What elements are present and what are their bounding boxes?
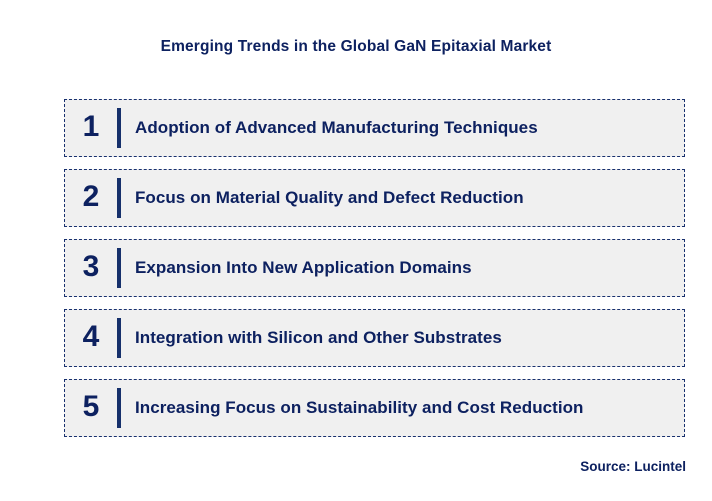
- trends-infographic: Emerging Trends in the Global GaN Epitax…: [0, 0, 712, 501]
- trend-label: Expansion Into New Application Domains: [135, 258, 684, 278]
- divider-bar: [117, 318, 121, 358]
- trend-number: 1: [65, 112, 117, 144]
- trend-label: Adoption of Advanced Manufacturing Techn…: [135, 118, 684, 138]
- trend-list: 1 Adoption of Advanced Manufacturing Tec…: [64, 99, 685, 437]
- divider-bar: [117, 388, 121, 428]
- trend-number: 2: [65, 182, 117, 214]
- trend-item-2[interactable]: 2 Focus on Material Quality and Defect R…: [64, 169, 685, 227]
- trend-item-1[interactable]: 1 Adoption of Advanced Manufacturing Tec…: [64, 99, 685, 157]
- trend-number: 5: [65, 392, 117, 424]
- divider-bar: [117, 178, 121, 218]
- trend-item-5[interactable]: 5 Increasing Focus on Sustainability and…: [64, 379, 685, 437]
- trend-item-3[interactable]: 3 Expansion Into New Application Domains: [64, 239, 685, 297]
- trend-label: Integration with Silicon and Other Subst…: [135, 328, 684, 348]
- trend-label: Focus on Material Quality and Defect Red…: [135, 188, 684, 208]
- source-attribution: Source: Lucintel: [580, 459, 686, 474]
- trend-number: 4: [65, 322, 117, 354]
- trend-item-4[interactable]: 4 Integration with Silicon and Other Sub…: [64, 309, 685, 367]
- trend-label: Increasing Focus on Sustainability and C…: [135, 398, 684, 418]
- page-title: Emerging Trends in the Global GaN Epitax…: [0, 38, 712, 56]
- divider-bar: [117, 108, 121, 148]
- trend-number: 3: [65, 252, 117, 284]
- divider-bar: [117, 248, 121, 288]
